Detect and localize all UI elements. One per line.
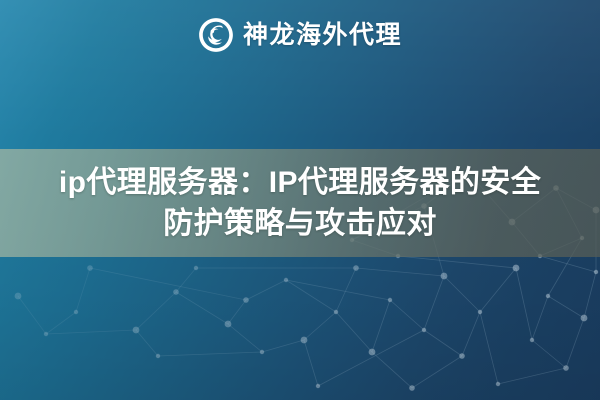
promo-banner: 神龙海外代理 ip代理服务器：IP代理服务器的安全 防护策略与攻击应对 — [0, 0, 600, 400]
title-band: ip代理服务器：IP代理服务器的安全 防护策略与攻击应对 — [0, 149, 600, 257]
title-line-2: 防护策略与攻击应对 — [163, 203, 437, 244]
brand-name: 神龙海外代理 — [243, 23, 402, 48]
dragon-swirl-circle-icon — [198, 17, 234, 53]
brand-header: 神龙海外代理 — [0, 12, 600, 58]
title-line-1: ip代理服务器：IP代理服务器的安全 — [59, 162, 541, 203]
